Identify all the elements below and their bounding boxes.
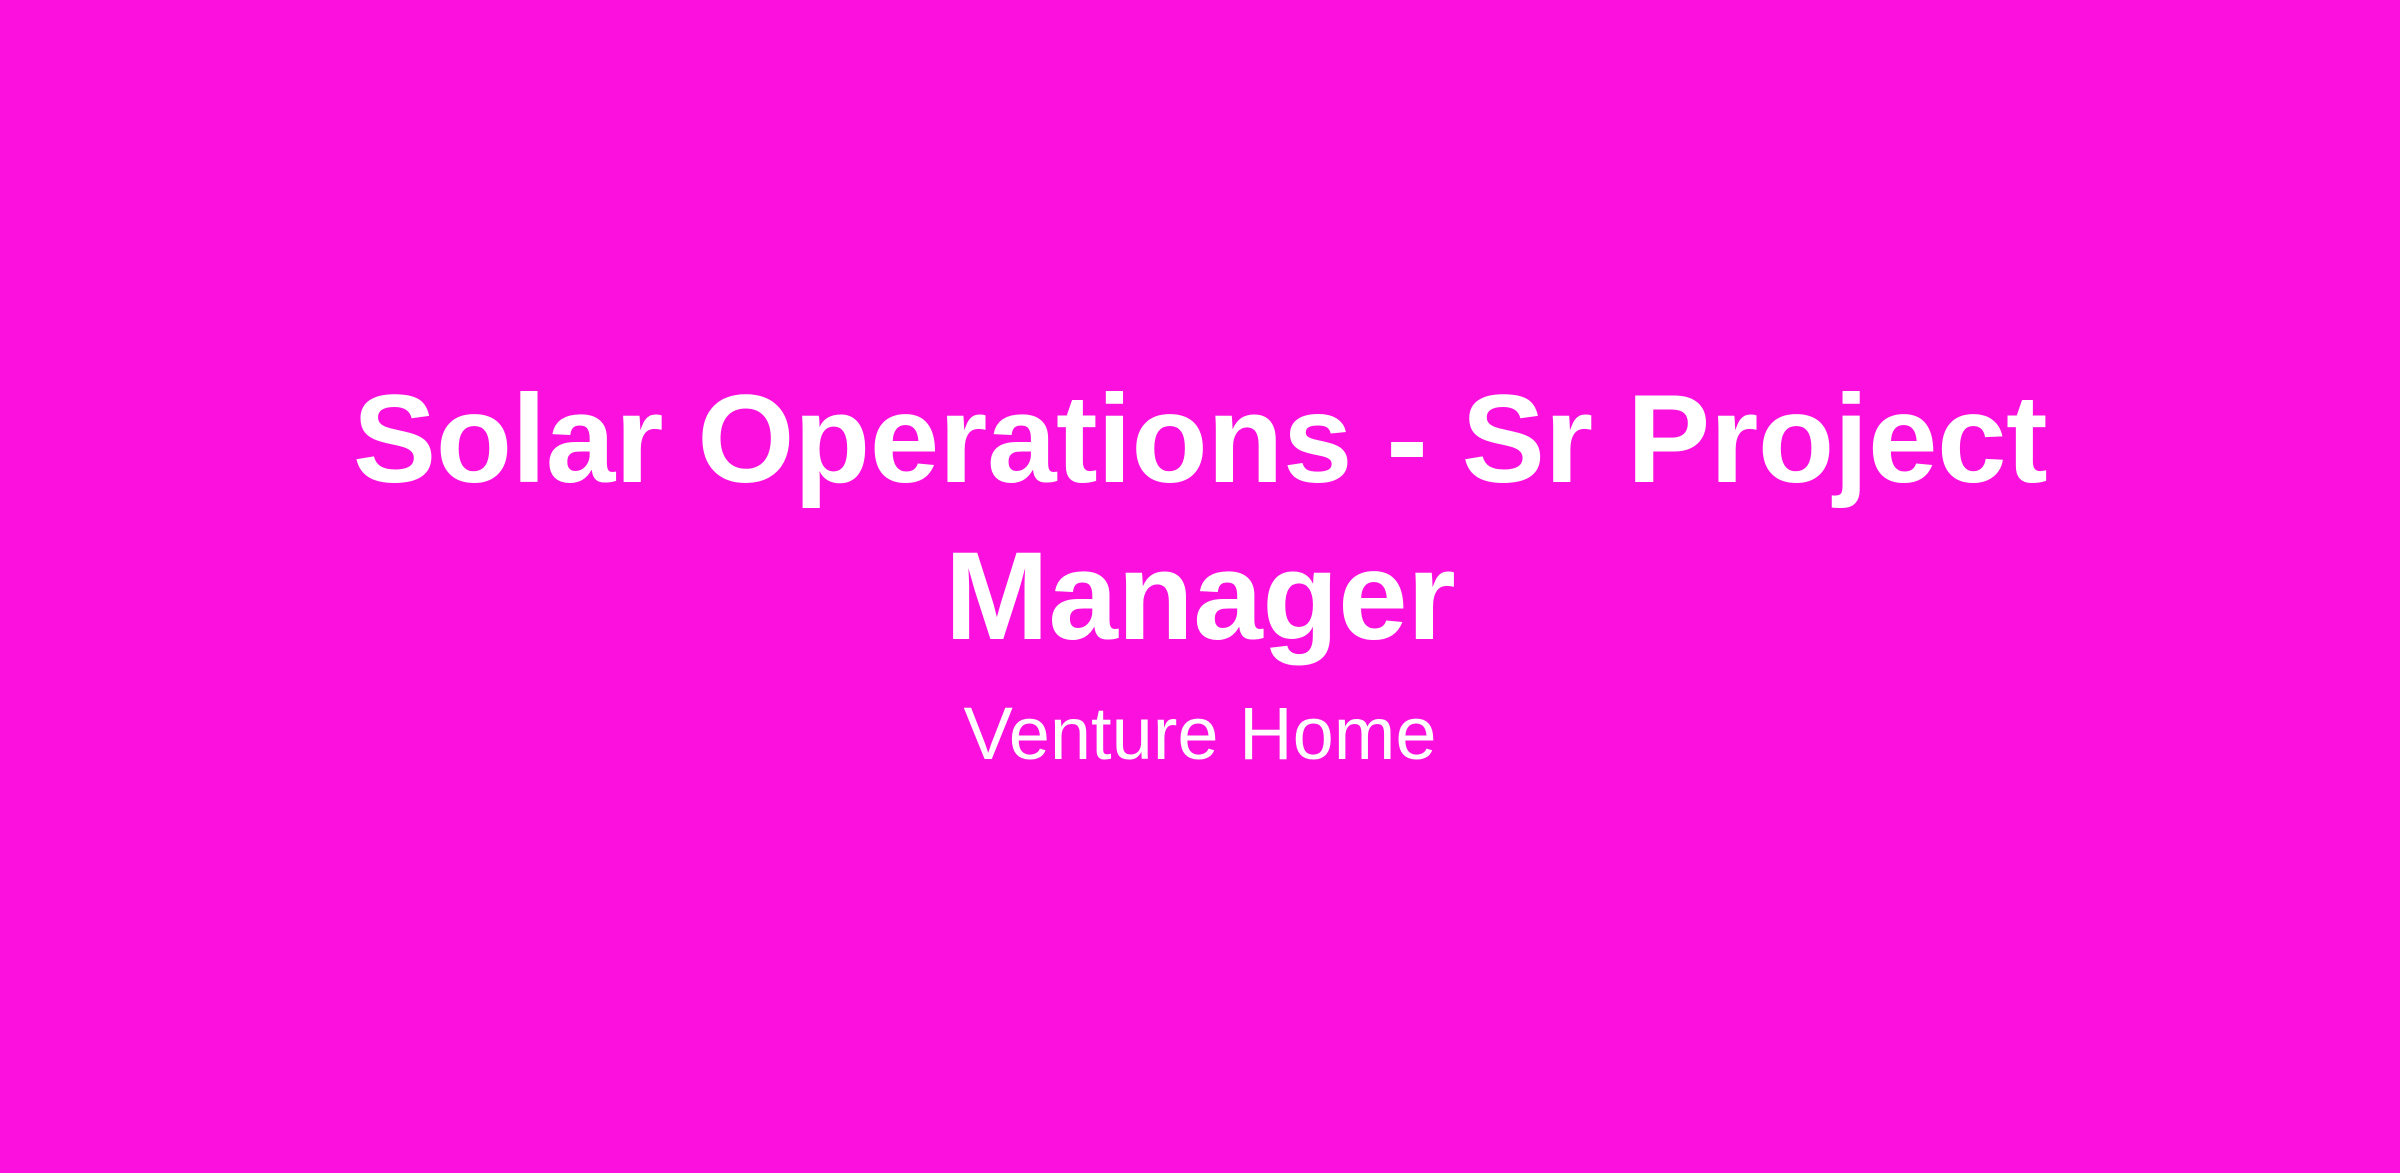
title-card-content: Solar Operations - Sr Project Manager Ve… [350, 361, 2050, 779]
page-title: Solar Operations - Sr Project Manager [350, 361, 2050, 676]
title-card: Solar Operations - Sr Project Manager Ve… [0, 0, 2400, 1173]
page-subtitle: Venture Home [963, 690, 1436, 779]
